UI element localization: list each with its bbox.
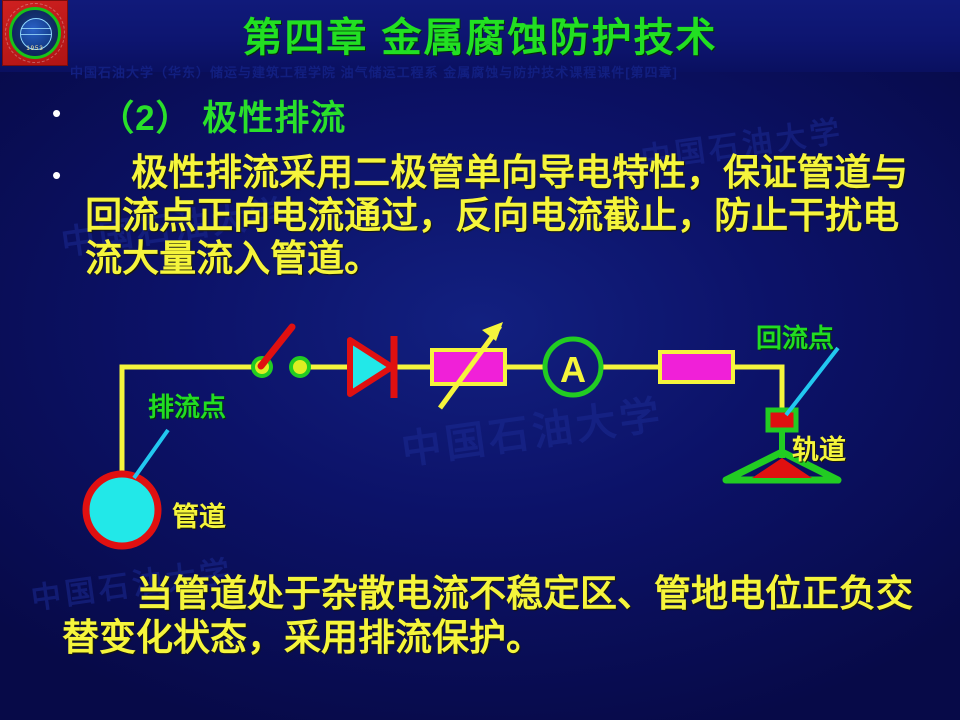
- drainage-point-leader-line: [134, 430, 168, 478]
- drainage-point-label: 排流点: [148, 387, 226, 424]
- bullet-dot-icon: •: [52, 162, 61, 188]
- return-point-label: 回流点: [756, 318, 834, 355]
- switch-blade-icon: [261, 327, 292, 366]
- diode-triangle-icon: [350, 340, 392, 394]
- bullet-2-label: 极性排流采用二极管单向导电特性，保证管道与回流点正向电流通过，反向电流截止，防止…: [85, 152, 915, 281]
- pipeline-circle: [86, 474, 158, 546]
- footer-bar: 上页 下页 返回 回主目录 2020/6/30 307: [0, 672, 960, 720]
- pipeline-label: 管道: [172, 495, 226, 534]
- rail-label: 轨道: [792, 428, 846, 467]
- bullet-1-label: （2） 极性排流: [99, 90, 346, 141]
- return-point-leader-line: [786, 348, 838, 415]
- bullet-item-1: • （2） 极性排流: [52, 90, 346, 141]
- page-title: 第四章 金属腐蚀防护技术: [0, 5, 960, 63]
- bottom-paragraph: 当管道处于杂散电流不稳定区、管地电位正负交替变化状态，采用排流保护。: [62, 572, 922, 659]
- bullet-item-2: • 极性排流采用二极管单向导电特性，保证管道与回流点正向电流通过，反向电流截止，…: [52, 152, 932, 281]
- subtitle-strip: 中国石油大学（华东）储运与建筑工程学院 油气储运工程系 金属腐蚀与防护技术课程课…: [70, 62, 930, 81]
- circuit-diagram: A 排流点 管道 回流点 轨道: [0, 300, 960, 560]
- ammeter-label: A: [560, 349, 586, 390]
- resistor-body: [660, 352, 733, 382]
- rail-connection-box: [768, 410, 796, 430]
- switch-right-terminal-icon: [291, 358, 309, 376]
- slide-root: 中国石油大学 中国石油大学 中国石油大学 中国石油大学 1953 第四章 金属腐…: [0, 0, 960, 720]
- bullet-dot-icon: •: [52, 100, 61, 126]
